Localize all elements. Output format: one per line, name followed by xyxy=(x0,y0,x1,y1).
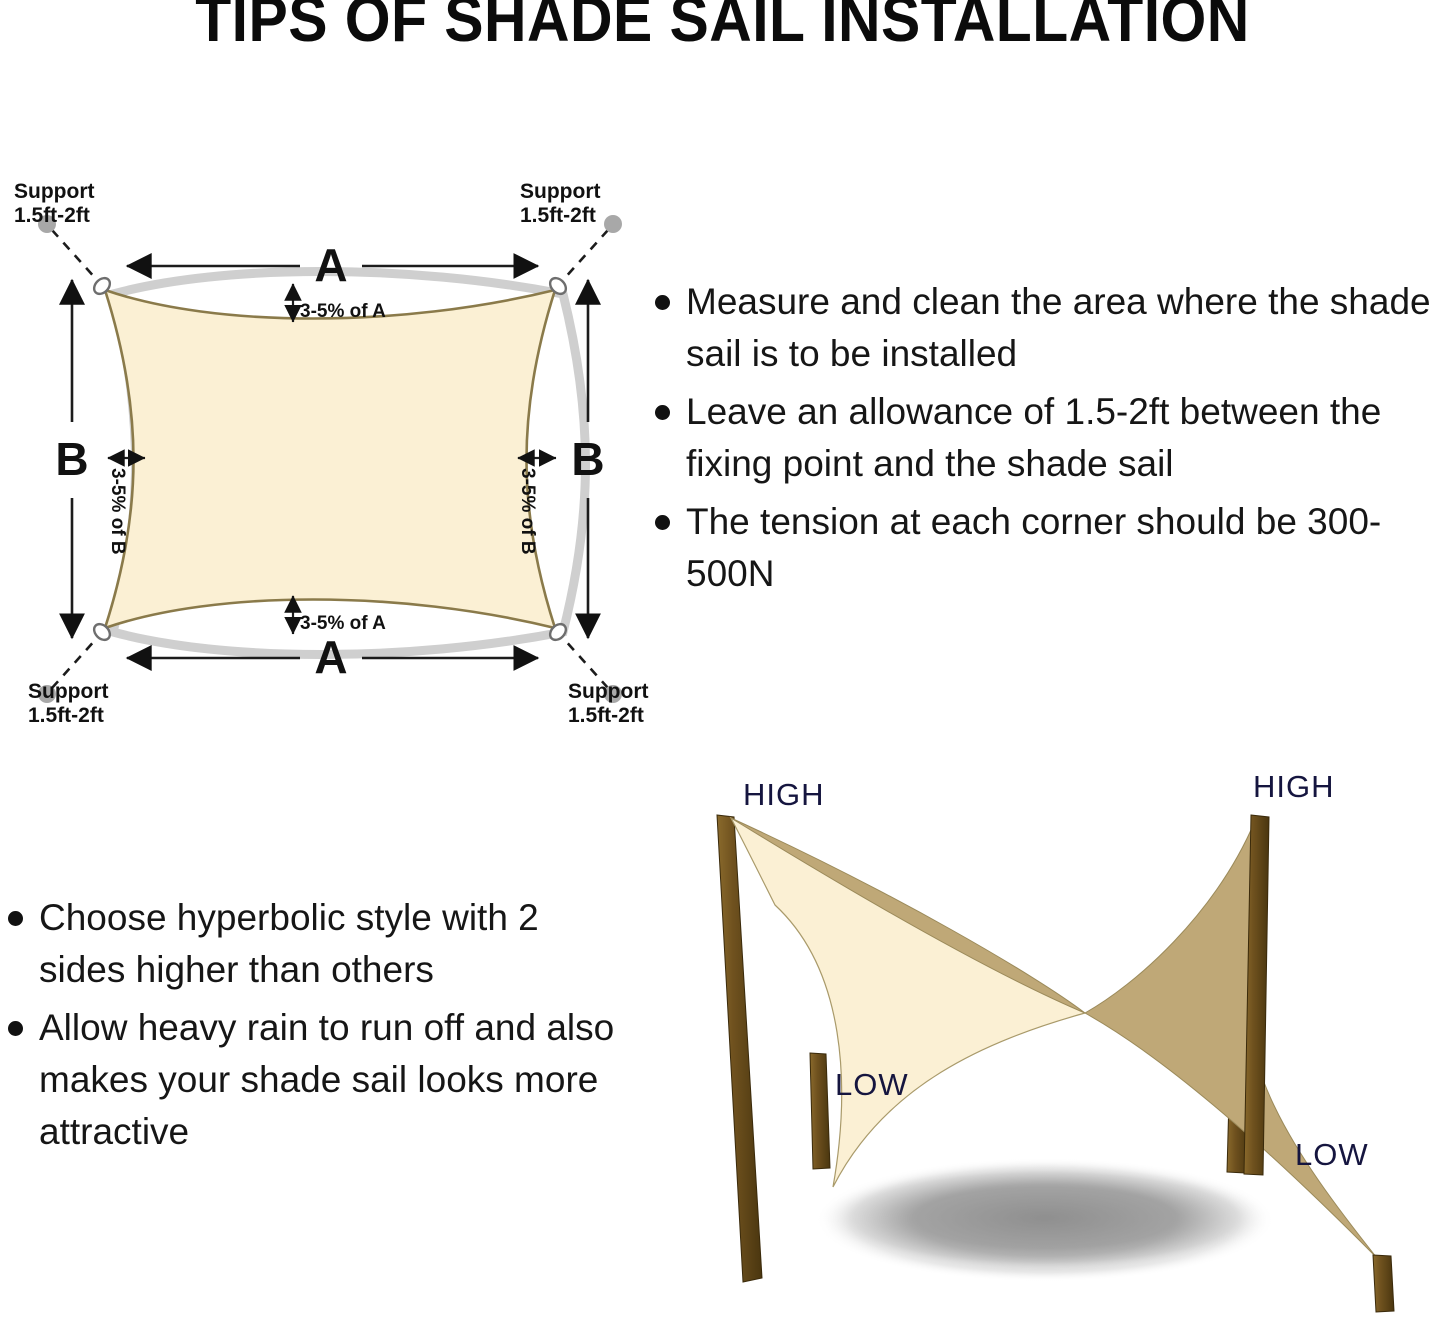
post-low-right xyxy=(1373,1255,1394,1312)
ground-shadow-rect xyxy=(820,1165,1270,1270)
support-label-top-left-line2: 1.5ft-2ft xyxy=(14,204,90,227)
list-item: Choose hyperbolic style with 2 sides hig… xyxy=(8,892,628,996)
label-low-right: LOW xyxy=(1295,1137,1369,1172)
curvature-label-left: 3-5% of B xyxy=(107,468,128,555)
tip-text: Leave an allowance of 1.5-2ft between th… xyxy=(686,386,1445,490)
tip-text: Allow heavy rain to run off and also mak… xyxy=(39,1002,628,1158)
dash-top-right xyxy=(563,230,608,280)
dash-top-left xyxy=(52,230,97,280)
bullet-dot-icon xyxy=(655,295,670,310)
curvature-label-right: 3-5% of B xyxy=(517,468,538,555)
list-item: The tension at each corner should be 300… xyxy=(655,496,1445,600)
tip-text: Choose hyperbolic style with 2 sides hig… xyxy=(39,892,628,996)
support-label-bottom-left-line2: 1.5ft-2ft xyxy=(28,704,104,727)
label-low-left: LOW xyxy=(835,1067,909,1102)
list-item: Allow heavy rain to run off and also mak… xyxy=(8,1002,628,1158)
tip-text: Measure and clean the area where the sha… xyxy=(686,276,1445,380)
list-item: Measure and clean the area where the sha… xyxy=(655,276,1445,380)
dimension-label-a-bottom: A xyxy=(314,631,347,683)
list-item: Leave an allowance of 1.5-2ft between th… xyxy=(655,386,1445,490)
dimension-a-bottom: A xyxy=(127,631,538,683)
support-label-bottom-left-line1: Support xyxy=(28,680,108,703)
sail-surface-cream xyxy=(731,818,1085,1187)
label-high-right: HIGH xyxy=(1253,769,1335,804)
tip-text: The tension at each corner should be 300… xyxy=(686,496,1445,600)
curvature-label-top: 3-5% of A xyxy=(300,301,386,322)
post-low-left xyxy=(810,1053,830,1169)
bullet-dot-icon xyxy=(655,405,670,420)
support-label-bottom-right-line2: 1.5ft-2ft xyxy=(568,704,644,727)
tips-list-bottom: Choose hyperbolic style with 2 sides hig… xyxy=(8,892,628,1164)
page-title: TIPS OF SHADE SAIL INSTALLATION xyxy=(58,0,1387,54)
dimension-label-b-right: B xyxy=(571,433,604,485)
support-label-top-right-line2: 1.5ft-2ft xyxy=(520,204,596,227)
curvature-label-bottom: 3-5% of A xyxy=(300,613,386,634)
hyperbolic-sail-diagram: HIGH HIGH LOW LOW xyxy=(655,755,1445,1319)
support-dot-top-right xyxy=(604,215,622,233)
dimension-b-left: B xyxy=(55,280,88,638)
bullet-dot-icon xyxy=(8,1021,23,1036)
support-label-bottom-right-line1: Support xyxy=(568,680,648,703)
support-label-top-right-line1: Support xyxy=(520,180,600,203)
dimension-label-a-top: A xyxy=(314,239,347,291)
bullet-dot-icon xyxy=(8,911,23,926)
support-label-top-left-line1: Support xyxy=(14,180,94,203)
shade-sail-shape xyxy=(105,290,555,628)
label-high-left: HIGH xyxy=(743,777,825,812)
dimension-label-b-left: B xyxy=(55,433,88,485)
bullet-dot-icon xyxy=(655,515,670,530)
curvature-right: 3-5% of B xyxy=(517,458,556,555)
post-high-left xyxy=(717,815,762,1282)
rectangular-sail-diagram: Support 1.5ft-2ft Support 1.5ft-2ft Supp… xyxy=(0,150,660,740)
tips-list-top: Measure and clean the area where the sha… xyxy=(655,276,1445,606)
